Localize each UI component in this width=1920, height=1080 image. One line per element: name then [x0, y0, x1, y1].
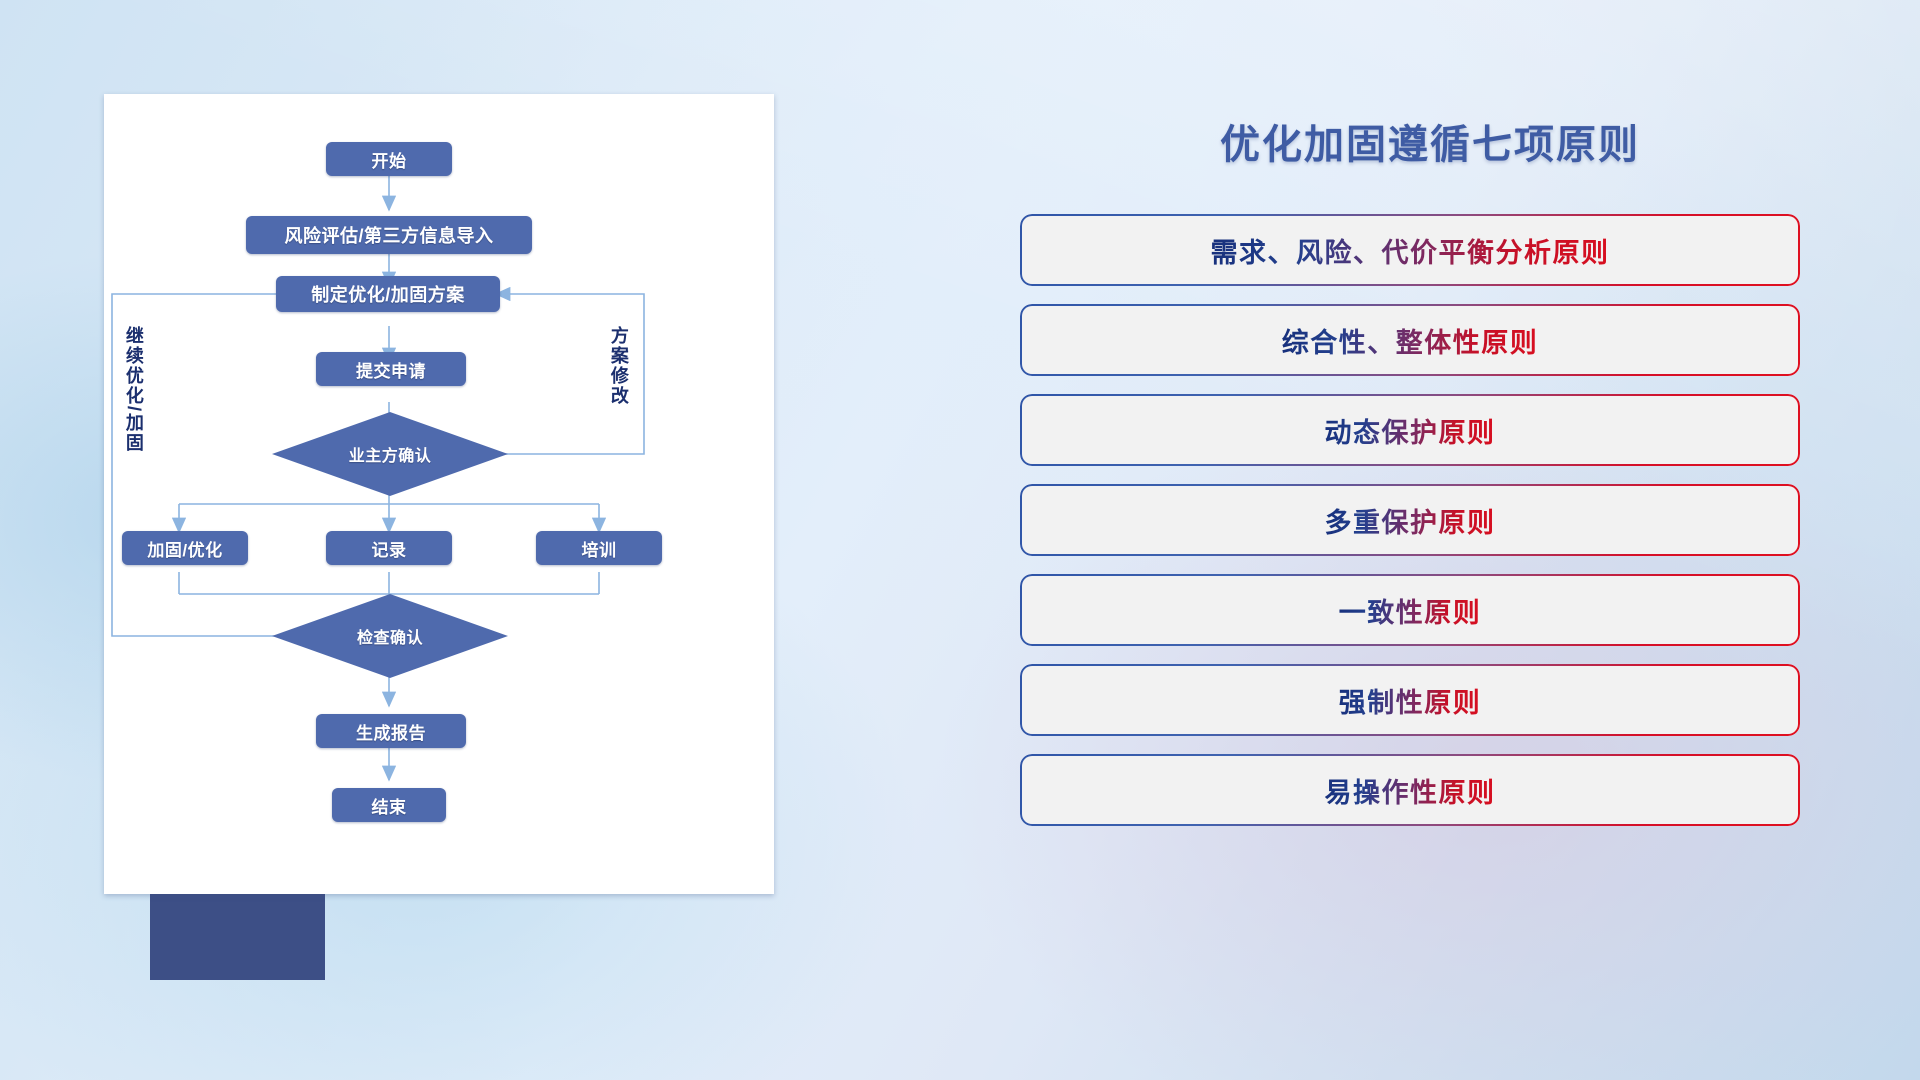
- edge-label-continue-optimize: 继续优化/加固: [124, 326, 143, 453]
- edge-label-plan-revision: 方案修改: [609, 326, 628, 406]
- principle-card-label: 一致性原则: [1339, 591, 1482, 630]
- flow-node-start[interactable]: 开始: [326, 142, 452, 176]
- flow-node-training[interactable]: 培训: [536, 531, 662, 565]
- principles-pane: 优化加固遵循七项原则 需求、风险、代价平衡分析原则 综合性、整体性原则 动态保护…: [1020, 70, 1840, 1020]
- flow-node-make-plan[interactable]: 制定优化/加固方案: [276, 276, 500, 312]
- flow-node-label: 结束: [372, 793, 407, 818]
- flow-node-label: 加固/优化: [147, 536, 222, 561]
- principle-card-label: 综合性、整体性原则: [1282, 321, 1539, 360]
- principle-card-label: 多重保护原则: [1325, 501, 1496, 540]
- flow-node-risk-assessment[interactable]: 风险评估/第三方信息导入: [246, 216, 532, 254]
- flow-node-submit-application[interactable]: 提交申请: [316, 352, 466, 386]
- flow-node-check-confirm[interactable]: 检查确认: [270, 592, 510, 680]
- flow-node-record[interactable]: 记录: [326, 531, 452, 565]
- flow-node-label: 制定优化/加固方案: [311, 281, 465, 307]
- principle-card[interactable]: 综合性、整体性原则: [1020, 304, 1800, 376]
- principles-title: 优化加固遵循七项原则: [1020, 112, 1840, 170]
- principle-card-label: 易操作性原则: [1325, 771, 1496, 810]
- principle-card[interactable]: 易操作性原则: [1020, 754, 1800, 826]
- principles-title-text: 优化加固遵循七项原则: [1220, 123, 1640, 167]
- principle-card[interactable]: 多重保护原则: [1020, 484, 1800, 556]
- principle-card[interactable]: 强制性原则: [1020, 664, 1800, 736]
- principle-card[interactable]: 一致性原则: [1020, 574, 1800, 646]
- flow-node-end[interactable]: 结束: [332, 788, 446, 822]
- principle-card-label: 强制性原则: [1339, 681, 1482, 720]
- principle-card-label: 需求、风险、代价平衡分析原则: [1211, 231, 1610, 270]
- flow-node-generate-report[interactable]: 生成报告: [316, 714, 466, 748]
- flow-node-reinforce-optimize[interactable]: 加固/优化: [122, 531, 248, 565]
- principle-card[interactable]: 需求、风险、代价平衡分析原则: [1020, 214, 1800, 286]
- flowchart-panel: 开始 风险评估/第三方信息导入 制定优化/加固方案 提交申请 业主方确认 加固/…: [104, 94, 774, 894]
- flow-node-label: 风险评估/第三方信息导入: [285, 222, 494, 248]
- flow-node-label: 业主方确认: [349, 442, 432, 466]
- flow-node-label: 生成报告: [356, 719, 426, 744]
- principles-card-list: 需求、风险、代价平衡分析原则 综合性、整体性原则 动态保护原则 多重保护原则 一…: [1020, 214, 1840, 826]
- principle-card[interactable]: 动态保护原则: [1020, 394, 1800, 466]
- edge-label-text: 方案修改: [609, 326, 629, 406]
- flow-node-label: 培训: [582, 536, 617, 561]
- flow-node-label: 记录: [372, 536, 407, 561]
- flow-node-label: 检查确认: [357, 624, 423, 648]
- principle-card-label: 动态保护原则: [1325, 411, 1496, 450]
- flow-node-label: 开始: [372, 147, 407, 172]
- flow-node-label: 提交申请: [356, 357, 426, 382]
- edge-label-text: 继续优化/加固: [124, 326, 144, 453]
- flow-node-owner-confirm[interactable]: 业主方确认: [270, 410, 510, 498]
